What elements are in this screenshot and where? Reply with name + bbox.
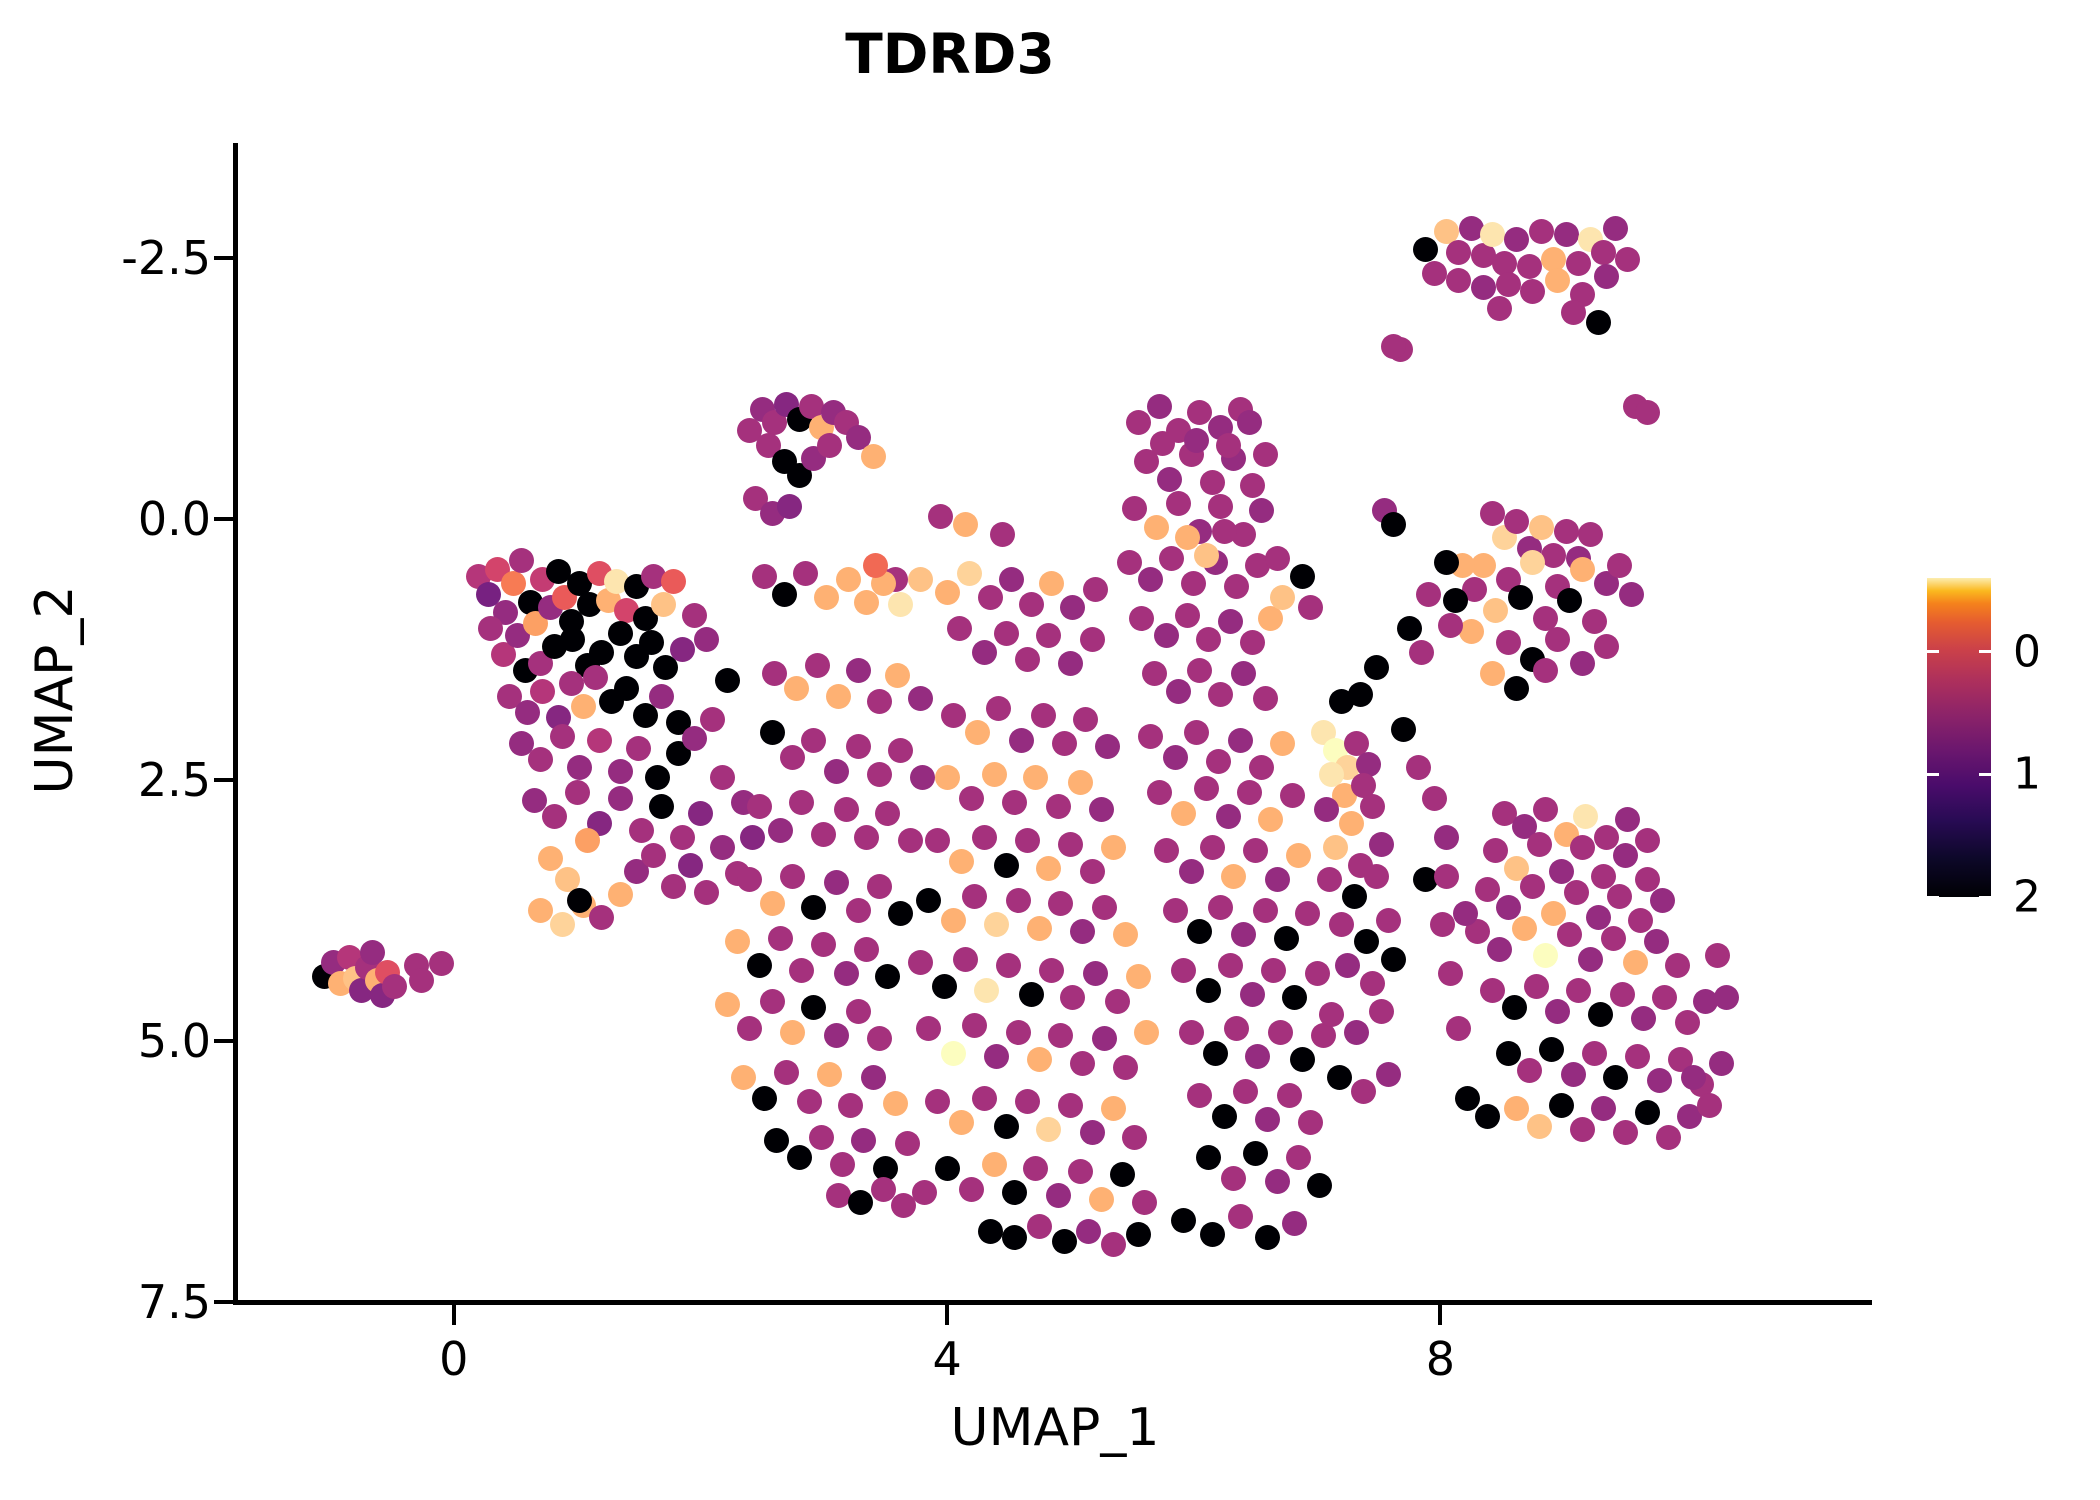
scatter-point [867,1026,892,1051]
scatter-point [1564,880,1589,905]
y-tick-label: 2.5 [138,753,211,807]
scatter-point [1566,978,1591,1003]
scatter-point [1179,1020,1204,1045]
scatter-point [1549,1093,1574,1118]
scatter-point [560,627,585,652]
scatter-point [1089,797,1114,822]
scatter-point [737,867,762,892]
scatter-point [1665,953,1690,978]
scatter-point [1221,864,1246,889]
scatter-point [1224,574,1249,599]
scatter-point [1446,1016,1471,1041]
scatter-point [1080,1120,1105,1145]
scatter-point [608,882,633,907]
scatter-point [608,621,633,646]
scatter-point [959,1177,984,1202]
scatter-point [760,989,785,1014]
colorbar-tick-mark [1927,896,1939,899]
scatter-point [1623,950,1648,975]
scatter-point [1533,797,1558,822]
scatter-point [1329,689,1354,714]
scatter-point [1265,1169,1290,1194]
scatter-point [608,786,633,811]
scatter-point [809,1125,834,1150]
scatter-point [1048,891,1073,916]
scatter-point [583,665,608,690]
scatter-point [1171,1208,1196,1233]
y-tick-label: 5.0 [138,1014,211,1068]
scatter-point [941,908,966,933]
scatter-point [1650,888,1675,913]
scatter-point [1126,1222,1151,1247]
scatter-point [747,794,772,819]
scatter-point [1039,571,1064,596]
scatter-point [1070,1051,1095,1076]
scatter-point [575,828,600,853]
scatter-point [1282,1211,1307,1236]
scatter-point [1541,543,1566,568]
scatter-point [1245,1044,1270,1069]
scatter-point [1652,985,1677,1010]
scatter-point [1280,783,1305,808]
scatter-point [916,888,941,913]
scatter-point [793,561,818,586]
scatter-point [1208,494,1233,519]
scatter-point [1483,838,1508,863]
scatter-point [1520,279,1545,304]
scatter-point [682,726,707,751]
scatter-point [1351,1079,1376,1104]
scatter-point [982,1152,1007,1177]
scatter-point [912,1180,937,1205]
scatter-point [1314,797,1339,822]
x-tick-label: 8 [1426,1332,1455,1386]
scatter-point [1656,1125,1681,1150]
scatter-point [1504,509,1529,534]
scatter-point [1237,780,1262,805]
scatter-point [1295,901,1320,926]
scatter-point [1529,515,1554,540]
scatter-point [925,1089,950,1114]
scatter-point [1527,1114,1552,1139]
scatter-point [1218,609,1243,634]
scatter-point [1335,953,1360,978]
scatter-point [567,888,592,913]
scatter-point [846,898,871,923]
scatter-point [789,958,814,983]
scatter-point [515,700,540,725]
scatter-point [1196,1145,1221,1170]
scatter-point [846,734,871,759]
scatter-point [1212,519,1237,544]
scatter-point [1327,1065,1352,1090]
scatter-point [1471,275,1496,300]
scatter-point [846,999,871,1024]
scatter-point [834,961,859,986]
scatter-point [1416,582,1441,607]
scatter-point [774,1060,799,1085]
scatter-point [1060,595,1085,620]
scatter-point [1290,1047,1315,1072]
scatter-point [589,640,614,665]
scatter-point [1615,247,1640,272]
scatter-point [1446,240,1471,265]
scatter-point [1255,1225,1280,1250]
scatter-point [1187,658,1212,683]
scatter-point [1070,919,1095,944]
scatter-point [867,762,892,787]
scatter-point [509,548,534,573]
scatter-point [1496,895,1521,920]
scatter-point [1006,888,1031,913]
scatter-point [1697,1093,1722,1118]
scatter-point [409,968,434,993]
scatter-point [935,1156,960,1181]
scatter-point [908,950,933,975]
x-tick-mark [945,1305,949,1325]
scatter-point [1060,985,1085,1010]
scatter-point [760,720,785,745]
scatter-point [1221,1166,1246,1191]
scatter-point [550,912,575,937]
scatter-point [1381,512,1406,537]
scatter-point [1132,1190,1157,1215]
scatter-point [817,1062,842,1087]
scatter-point [1129,606,1154,631]
scatter-point [1231,922,1256,947]
x-tick-label: 4 [932,1332,961,1386]
scatter-point [661,569,686,594]
scatter-point [1036,1117,1061,1142]
scatter-point [861,1065,886,1090]
scatter-point [1006,1020,1031,1045]
scatter-point [1381,334,1406,359]
scatter-point [1015,647,1040,672]
scatter-point [780,745,805,770]
scatter-point [1647,1068,1672,1093]
scatter-point [1015,1089,1040,1114]
scatter-point [1243,1141,1268,1166]
scatter-point [994,1114,1019,1139]
scatter-point [1475,877,1500,902]
scatter-point [1570,1117,1595,1142]
scatter-point [1475,1104,1500,1129]
scatter-point [565,780,590,805]
scatter-point [626,736,651,761]
scatter-point [1002,1180,1027,1205]
scatter-point [528,898,553,923]
scatter-point [1270,585,1295,610]
scatter-point [764,1128,789,1153]
scatter-point [962,884,987,909]
scatter-layer [238,143,1872,1302]
scatter-point [1438,961,1463,986]
scatter-point [1258,807,1283,832]
scatter-point [836,567,861,592]
scatter-point [688,801,713,826]
scatter-point [867,874,892,899]
scatter-point [1031,703,1056,728]
scatter-point [1541,901,1566,926]
colorbar-gradient [1927,578,1991,897]
scatter-point [1705,943,1730,968]
colorbar-tick-mark [1927,773,1939,776]
scatter-point [1196,627,1221,652]
scatter-point [1142,661,1167,686]
colorbar-tick-label: 2 [2013,872,2041,923]
scatter-point [1019,592,1044,617]
scatter-point [895,1131,920,1156]
scatter-point [1453,901,1478,926]
scatter-point [1496,272,1521,297]
scatter-point [1397,616,1422,641]
scatter-point [772,582,797,607]
scatter-point [1480,501,1505,526]
scatter-point [861,444,886,469]
scatter-point [1487,937,1512,962]
scatter-point [777,494,802,519]
scatter-point [715,992,740,1017]
scatter-point [846,658,871,683]
scatter-point [1508,585,1533,610]
scatter-point [715,668,740,693]
scatter-point [1529,219,1554,244]
scatter-point [1203,1041,1228,1066]
scatter-point [1126,964,1151,989]
scatter-point [797,1089,822,1114]
scatter-point [811,932,836,957]
scatter-point [752,1086,777,1111]
scatter-point [1163,898,1188,923]
scatter-point [1228,728,1253,753]
scatter-point [1607,884,1632,909]
scatter-point [1496,1041,1521,1066]
scatter-point [740,825,765,850]
scatter-point [1039,958,1064,983]
scatter-point [1545,268,1570,293]
scatter-point [1138,724,1163,749]
scatter-point [1240,982,1265,1007]
scatter-point [1105,989,1130,1014]
scatter-point [641,843,666,868]
scatter-point [875,964,900,989]
scatter-point [824,759,849,784]
scatter-point [1570,651,1595,676]
x-tick-mark [1438,1305,1442,1325]
scatter-point [1443,588,1468,613]
scatter-point [1147,394,1172,419]
scatter-point [1023,1156,1048,1181]
scatter-point [888,592,913,617]
scatter-point [1317,867,1342,892]
scatter-point [1023,765,1048,790]
scatter-point [986,696,1011,721]
scatter-point [737,1016,762,1041]
scatter-point [1339,811,1364,836]
scatter-point [1635,1100,1660,1125]
scatter-point [834,797,859,822]
scatter-point [1150,431,1175,456]
scatter-point [1290,564,1315,589]
scatter-point [824,870,849,895]
scatter-point [1175,603,1200,628]
scatter-point [1376,1062,1401,1087]
scatter-point [984,912,1009,937]
scatter-point [1545,627,1570,652]
scatter-point [801,895,826,920]
scatter-point [1154,623,1179,648]
scatter-point [1122,496,1147,521]
scatter-point [429,951,454,976]
scatter-point [1058,651,1083,676]
scatter-point [1200,835,1225,860]
scatter-point [1480,978,1505,1003]
y-axis-line [233,143,238,1305]
scatter-point [1101,1096,1126,1121]
scatter-point [1360,794,1385,819]
scatter-point [1002,790,1027,815]
scatter-point [1240,473,1265,498]
scatter-point [1261,958,1286,983]
scatter-point [1282,985,1307,1010]
colorbar-tick-mark [1927,650,1939,653]
scatter-point [1076,1219,1101,1244]
scatter-point [530,679,555,704]
scatter-point [1110,1162,1135,1187]
scatter-point [994,853,1019,878]
scatter-point [805,653,830,678]
scatter-point [1187,1083,1212,1108]
scatter-point [1184,720,1209,745]
scatter-point [982,762,1007,787]
scatter-point [949,849,974,874]
scatter-point [1027,1214,1052,1239]
scatter-point [1344,1020,1369,1045]
scatter-point [830,1152,855,1177]
scatter-point [768,926,793,951]
scatter-point [694,627,719,652]
scatter-point [1354,929,1379,954]
scatter-point [1635,828,1660,853]
scatter-point [1561,300,1586,325]
scatter-point [1228,1204,1253,1229]
scatter-point [1591,864,1616,889]
scatter-point [824,1023,849,1048]
scatter-point [1369,999,1394,1024]
scatter-point [1046,794,1071,819]
scatter-point [949,1110,974,1135]
scatter-point [784,676,809,701]
scatter-point [875,801,900,826]
x-tick-label: 0 [439,1332,468,1386]
scatter-point [1048,1023,1073,1048]
scatter-point [1249,755,1274,780]
scatter-point [1578,522,1603,547]
scatter-point [1533,658,1558,683]
scatter-point [780,1020,805,1045]
scatter-point [953,947,978,972]
scatter-point [538,846,563,871]
scatter-point [1391,717,1416,742]
y-tick-mark [214,1039,234,1043]
scatter-point [908,686,933,711]
scatter-point [1554,222,1579,247]
scatter-point [1058,832,1083,857]
scatter-point [811,822,836,847]
y-tick-mark [214,517,234,521]
y-tick-mark [214,1300,234,1304]
scatter-point [826,684,851,709]
scatter-point [1601,926,1626,951]
scatter-point [1157,467,1182,492]
scatter-point [1381,947,1406,972]
scatter-point [1052,1229,1077,1254]
scatter-point [1591,1096,1616,1121]
scatter-point [941,703,966,728]
scatter-point [854,937,879,962]
scatter-point [1187,919,1212,944]
scatter-point [661,874,686,899]
scatter-point [1566,251,1591,276]
scatter-point [1635,400,1660,425]
scatter-point [1557,588,1582,613]
scatter-point [972,1086,997,1111]
scatter-point [910,765,935,790]
scatter-point [814,585,839,610]
page-title: TDRD3 [0,22,1900,86]
scatter-point [1714,985,1739,1010]
scatter-point [885,663,910,688]
scatter-point [1212,1104,1237,1129]
scatter-point [694,880,719,905]
scatter-point [1591,240,1616,265]
scatter-point [629,818,654,843]
scatter-point [542,804,567,829]
scatter-point [1298,1110,1323,1135]
scatter-point [916,1016,941,1041]
scatter-point [1058,1093,1083,1118]
scatter-point [1610,982,1635,1007]
scatter-point [1570,835,1595,860]
scatter-point [1208,895,1233,920]
x-tick-mark [452,1305,456,1325]
scatter-point [1483,598,1508,623]
scatter-point [1298,595,1323,620]
y-tick-mark [214,778,234,782]
scatter-point [710,835,735,860]
scatter-point [1446,268,1471,293]
scatter-point [1019,982,1044,1007]
scatter-point [1480,222,1505,247]
scatter-point [1101,835,1126,860]
scatter-point [1265,867,1290,892]
scatter-point [1113,922,1138,947]
scatter-point [1253,898,1278,923]
scatter-point [1588,1002,1613,1027]
scatter-point [645,765,670,790]
scatter-point [1430,912,1455,937]
scatter-point [1240,630,1265,655]
scatter-point [1517,1058,1542,1083]
scatter-point [1557,922,1582,947]
scatter-point [1200,470,1225,495]
scatter-point [700,707,725,732]
scatter-point [1539,1037,1564,1062]
scatter-point [817,433,842,458]
scatter-point [1046,1183,1071,1208]
scatter-point [1237,410,1262,435]
scatter-point [1101,1232,1126,1257]
